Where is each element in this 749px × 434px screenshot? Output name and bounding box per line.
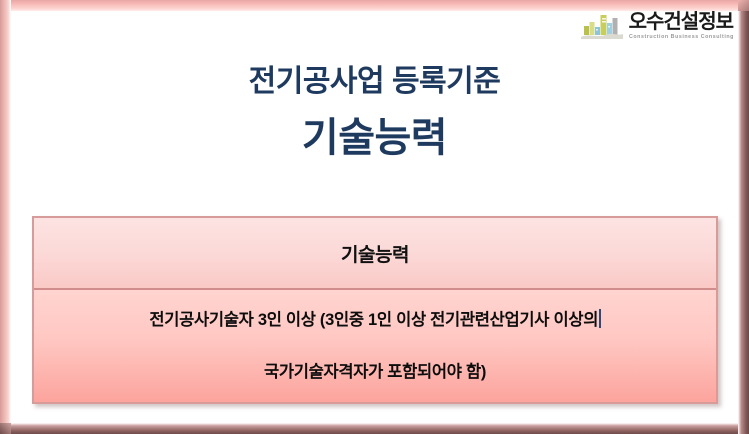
- frame-border-bottom: [0, 423, 749, 434]
- text-cursor-caret: [599, 309, 601, 328]
- company-logo[interactable]: 오수건설정보 Construction Business Consulting: [581, 10, 733, 41]
- table-body-line-1-text: 전기공사기술자 3인 이상 (3인중 1인 이상 전기관련산업기사 이상의: [149, 311, 598, 329]
- logo-company-name: 오수건설정보: [629, 11, 733, 33]
- table-body-line-2: 국가기술자격자가 포함되어야 함): [264, 357, 486, 387]
- page-title-primary: 전기공사업 등록기준: [0, 62, 749, 102]
- logo-text: 오수건설정보 Construction Business Consulting: [629, 10, 733, 41]
- slide-page: 오수건설정보 Construction Business Consulting …: [0, 0, 749, 434]
- frame-corner-bottom-left: [0, 423, 11, 434]
- logo-tagline: Construction Business Consulting: [629, 33, 734, 41]
- table-header-label: 기술능력: [341, 240, 409, 267]
- buildings-icon: [581, 10, 623, 40]
- table-body-line-1: 전기공사기술자 3인 이상 (3인중 1인 이상 전기관련산업기사 이상의: [149, 305, 600, 335]
- page-title-block: 전기공사업 등록기준 기술능력: [0, 62, 749, 164]
- table-header-row: 기술능력: [34, 218, 716, 290]
- table-body-row[interactable]: 전기공사기술자 3인 이상 (3인중 1인 이상 전기관련산업기사 이상의 국가…: [34, 290, 716, 402]
- page-title-secondary: 기술능력: [0, 112, 749, 164]
- requirements-table: 기술능력 전기공사기술자 3인 이상 (3인중 1인 이상 전기관련산업기사 이…: [32, 216, 718, 404]
- frame-corner-top-right: [738, 0, 749, 11]
